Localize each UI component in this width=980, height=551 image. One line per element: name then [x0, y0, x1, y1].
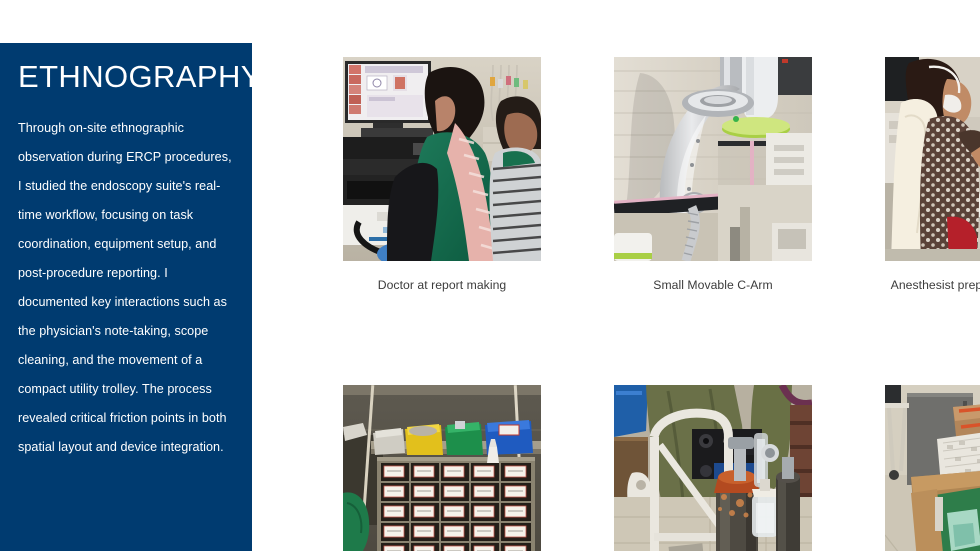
gallery-item: Small Movable C-Arm: [614, 57, 812, 294]
space-for-waste-image: BIOHAZARD: [885, 385, 980, 551]
gallery-item: Accessory Cart: [343, 385, 541, 551]
small-movable-c-arm-image: [614, 57, 812, 261]
doctor-at-report-making-image: [343, 57, 541, 261]
gallery-item: Anesthesist preparing for sedation: [885, 57, 980, 294]
co2-cylinder-for-insufflation-image: [614, 385, 812, 551]
ethnography-description: Through on-site ethnographic observation…: [18, 114, 236, 462]
gallery-item-caption: Anesthesist preparing for sedation: [885, 278, 980, 294]
gallery-row: Accessory Cart: [303, 369, 963, 551]
photo-gallery: Doctor at report making: [303, 41, 963, 551]
page-title: ETHNOGRAPHY: [18, 61, 234, 94]
gallery-item: BIOHAZARD: [885, 385, 980, 551]
ethnography-slide: ETHNOGRAPHY Through on-site ethnographic…: [0, 0, 980, 551]
gallery-item: Doctor at report making: [343, 57, 541, 294]
photo-space-for-waste[interactable]: BIOHAZARD: [885, 385, 980, 551]
gallery-row: Doctor at report making: [303, 41, 963, 310]
gallery-item-caption: Doctor at report making: [343, 278, 541, 294]
gallery-item-caption: Small Movable C-Arm: [614, 278, 812, 294]
photo-accessory-cart[interactable]: [343, 385, 541, 551]
accessory-cart-image: [343, 385, 541, 551]
photo-anesthesist-preparing-for-sedation[interactable]: [885, 57, 980, 261]
ethnography-sidebar: ETHNOGRAPHY Through on-site ethnographic…: [0, 43, 252, 551]
gallery-item: C02 Cylinder for insufflation: [614, 385, 812, 551]
photo-doctor-at-report-making[interactable]: [343, 57, 541, 261]
photo-co2-cylinder-for-insufflation[interactable]: [614, 385, 812, 551]
photo-small-movable-c-arm[interactable]: [614, 57, 812, 261]
anesthesist-preparing-for-sedation-image: [885, 57, 980, 261]
